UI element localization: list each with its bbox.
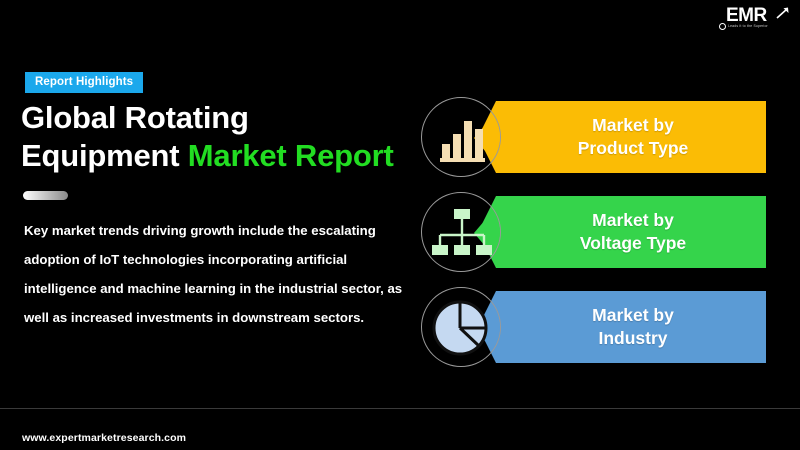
card-label-line-2: Industry	[576, 327, 667, 350]
emr-logo: EMR Leads it to the Superior	[718, 6, 792, 36]
card-label-line-1: Market by	[570, 114, 674, 137]
card-market-by-industry[interactable]: Market by Industry	[421, 287, 766, 367]
card-label-line-1: Market by	[570, 304, 674, 327]
title-divider-pill	[23, 191, 68, 200]
pie-chart-icon	[422, 288, 501, 367]
circle-dot-icon	[719, 23, 726, 30]
report-highlights-badge: Report Highlights	[25, 72, 143, 93]
card-label-line-2: Voltage Type	[558, 232, 686, 255]
title-line-2-highlight: Market Report	[188, 138, 394, 173]
card-icon-circle	[421, 192, 501, 272]
card-banner[interactable]: Market by Industry	[478, 291, 766, 363]
org-chart-icon	[422, 193, 501, 272]
emr-logo-tagline: Leads it to the Superior	[728, 24, 768, 29]
card-market-by-voltage-type[interactable]: Market by Voltage Type	[421, 192, 766, 272]
emr-logo-text: EMR	[726, 6, 767, 25]
card-label-line-2: Product Type	[556, 137, 689, 160]
title-line-1: Global Rotating	[21, 100, 249, 135]
slide-canvas: EMR Leads it to the Superior Report High…	[0, 0, 800, 450]
card-icon-circle	[421, 287, 501, 367]
card-label-line-1: Market by	[570, 209, 674, 232]
footer-url[interactable]: www.expertmarketresearch.com	[22, 432, 186, 444]
card-banner[interactable]: Market by Product Type	[478, 101, 766, 173]
card-market-by-product-type[interactable]: Market by Product Type	[421, 97, 766, 177]
card-icon-circle	[421, 97, 501, 177]
body-paragraph: Key market trends driving growth include…	[24, 216, 404, 332]
footer-divider	[0, 408, 800, 409]
title-line-2-plain: Equipment	[21, 138, 188, 173]
bar-chart-icon	[422, 98, 501, 177]
growth-arrow-icon	[776, 6, 790, 20]
page-title: Global Rotating Equipment Market Report	[21, 99, 421, 175]
card-banner[interactable]: Market by Voltage Type	[478, 196, 766, 268]
